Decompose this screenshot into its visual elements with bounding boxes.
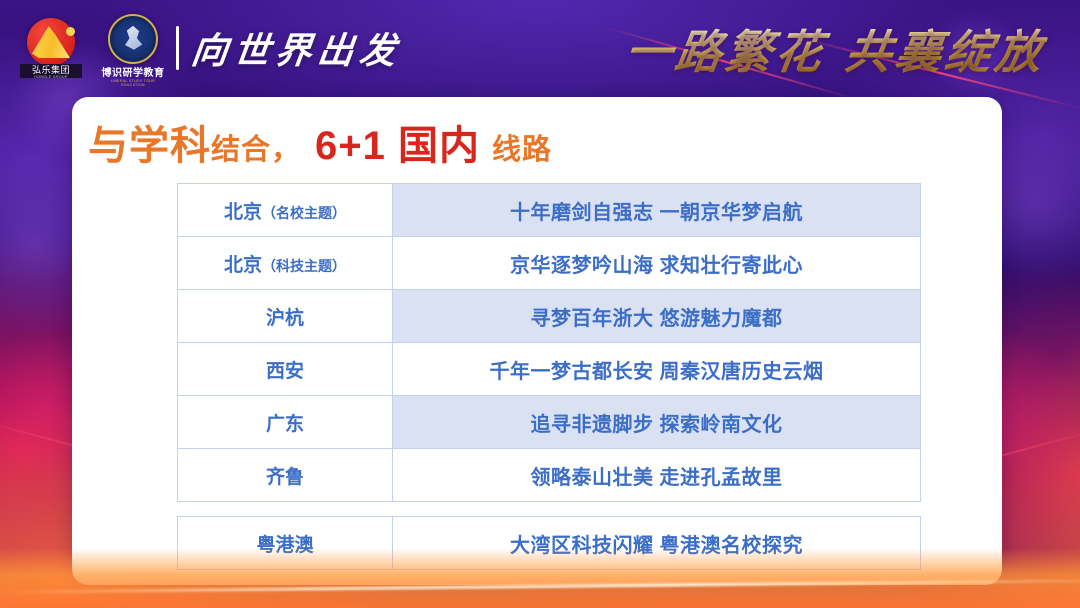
- bottom-glow-band: [0, 548, 1080, 608]
- page-title: 与学科 结合， 6+1 国内 线路: [88, 113, 552, 171]
- routes-table: 北京（名校主题）十年磨剑自强志 一朝京华梦启航北京（科技主题）京华逐梦吟山海 求…: [177, 183, 921, 502]
- table-row: 西安千年一梦古都长安 周秦汉唐历史云烟: [178, 343, 921, 396]
- table-cell-region: 齐鲁: [178, 449, 393, 502]
- table-row: 齐鲁领略泰山壮美 走进孔孟故里: [178, 449, 921, 502]
- hongle-group-name: 弘乐集团: [32, 65, 70, 75]
- region-note: （名校主题）: [262, 205, 346, 221]
- header-banner: 弘乐集团 HONGLE GROUP 博识研学教育 LIBERAL STUDY T…: [0, 0, 1080, 96]
- vertical-divider: [176, 26, 179, 70]
- boshi-education-logo: 博识研学教育 LIBERAL STUDY TOUR EDUCATION: [100, 14, 166, 82]
- region-name: 齐鲁: [266, 467, 304, 488]
- table-cell-region: 北京（名校主题）: [178, 184, 393, 237]
- routes-table-wrapper: 北京（名校主题）十年磨剑自强志 一朝京华梦启航北京（科技主题）京华逐梦吟山海 求…: [177, 183, 921, 570]
- page-title-part2: 结合，: [211, 126, 301, 168]
- logo-dot-icon: [66, 27, 75, 36]
- hongle-group-label: 弘乐集团 HONGLE GROUP: [20, 64, 82, 78]
- boshi-education-name: 博识研学教育: [102, 68, 165, 79]
- page-title-part3: 6+1 国内: [315, 113, 480, 171]
- region-name: 广东: [266, 414, 304, 435]
- page-title-part1: 与学科: [88, 113, 211, 171]
- page-title-part4: 线路: [492, 126, 552, 168]
- hongle-group-sub: HONGLE GROUP: [20, 75, 82, 79]
- region-name: 西安: [266, 361, 304, 382]
- table-row: 北京（科技主题）京华逐梦吟山海 求知壮行寄此心: [178, 237, 921, 290]
- region-name: 沪杭: [266, 308, 304, 329]
- table-row: 广东追寻非遗脚步 探索岭南文化: [178, 396, 921, 449]
- table-cell-region: 西安: [178, 343, 393, 396]
- table-cell-region: 北京（科技主题）: [178, 237, 393, 290]
- content-card: 与学科 结合， 6+1 国内 线路 北京（名校主题）十年磨剑自强志 一朝京华梦启…: [72, 97, 1002, 585]
- table-cell-slogan: 寻梦百年浙大 悠游魅力魔都: [393, 290, 921, 343]
- boshi-education-label: 博识研学教育 LIBERAL STUDY TOUR EDUCATION: [100, 64, 166, 87]
- table-cell-slogan: 十年磨剑自强志 一朝京华梦启航: [393, 184, 921, 237]
- table-cell-slogan: 千年一梦古都长安 周秦汉唐历史云烟: [393, 343, 921, 396]
- table-cell-slogan: 领略泰山壮美 走进孔孟故里: [393, 449, 921, 502]
- region-name: 北京: [224, 202, 262, 223]
- slide-background: 弘乐集团 HONGLE GROUP 博识研学教育 LIBERAL STUDY T…: [0, 0, 1080, 608]
- boshi-education-sub: LIBERAL STUDY TOUR EDUCATION: [100, 79, 166, 87]
- header-slogan: 向世界出发: [189, 22, 405, 74]
- table-row: 北京（名校主题）十年磨剑自强志 一朝京华梦启航: [178, 184, 921, 237]
- region-name: 北京: [224, 255, 262, 276]
- table-cell-region: 沪杭: [178, 290, 393, 343]
- table-cell-slogan: 追寻非遗脚步 探索岭南文化: [393, 396, 921, 449]
- hongle-group-logo: 弘乐集团 HONGLE GROUP: [20, 18, 82, 80]
- table-row: 沪杭寻梦百年浙大 悠游魅力魔都: [178, 290, 921, 343]
- gold-event-title: 一路繁花 共襄绽放: [621, 16, 1050, 82]
- table-cell-region: 广东: [178, 396, 393, 449]
- table-cell-slogan: 京华逐梦吟山海 求知壮行寄此心: [393, 237, 921, 290]
- crest-icon: [108, 14, 158, 64]
- region-note: （科技主题）: [262, 258, 346, 274]
